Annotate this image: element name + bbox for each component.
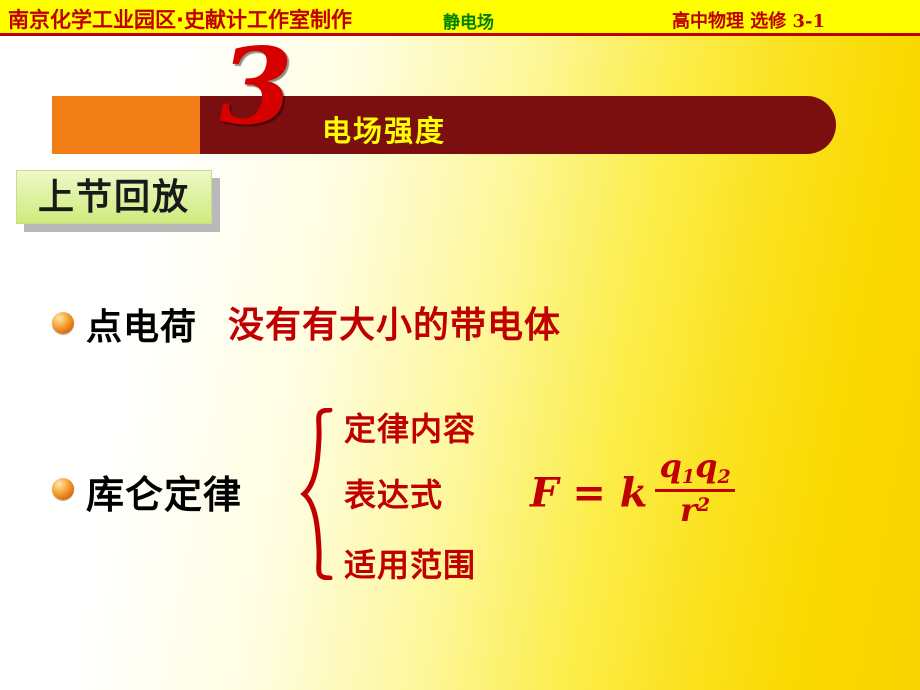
- formula-r-exponent: 2: [697, 494, 710, 516]
- header-center-text: 静电场: [443, 8, 494, 33]
- bullet-1-description: 没有有大小的带电体: [228, 296, 561, 348]
- formula-r: r: [680, 491, 697, 529]
- page-title: 电场强度: [322, 108, 446, 150]
- formula-fraction: q1q2r2: [655, 450, 734, 532]
- slide: 南京化学工业园区·史献计工作室制作 静电场 高中物理 选修 3-1 3 电场强度…: [0, 0, 920, 690]
- header-left-text: 南京化学工业园区·史献计工作室制作: [8, 4, 352, 34]
- formula-q2: q: [695, 447, 717, 485]
- bullet-sphere-icon: [52, 478, 74, 500]
- header-right-text: 高中物理 选修 3-1: [672, 7, 825, 33]
- section-tag-label: 上节回放: [16, 172, 212, 226]
- curly-brace-icon: [300, 408, 334, 580]
- slide-number: 3: [190, 34, 320, 139]
- brace-item-2: 表达式: [344, 470, 443, 516]
- formula-denominator: r2: [655, 493, 734, 532]
- formula-lead: F = k: [530, 470, 647, 517]
- formula-q1: q: [659, 447, 681, 485]
- formula-q2-sub: 2: [717, 466, 730, 488]
- brace-item-1: 定律内容: [344, 404, 476, 450]
- title-number-box: [52, 96, 200, 154]
- slide-header: 南京化学工业园区·史献计工作室制作 静电场 高中物理 选修 3-1: [0, 0, 920, 36]
- formula-q1-sub: 1: [682, 466, 695, 488]
- bullet-sphere-icon: [52, 312, 74, 334]
- coulomb-law-formula: F = kq1q2r2: [530, 452, 735, 534]
- bullet-1-label: 点电荷: [86, 298, 197, 350]
- formula-numerator: q1q2: [655, 450, 734, 487]
- bullet-2-label: 库仑定律: [86, 464, 242, 519]
- brace-item-3: 适用范围: [344, 540, 476, 586]
